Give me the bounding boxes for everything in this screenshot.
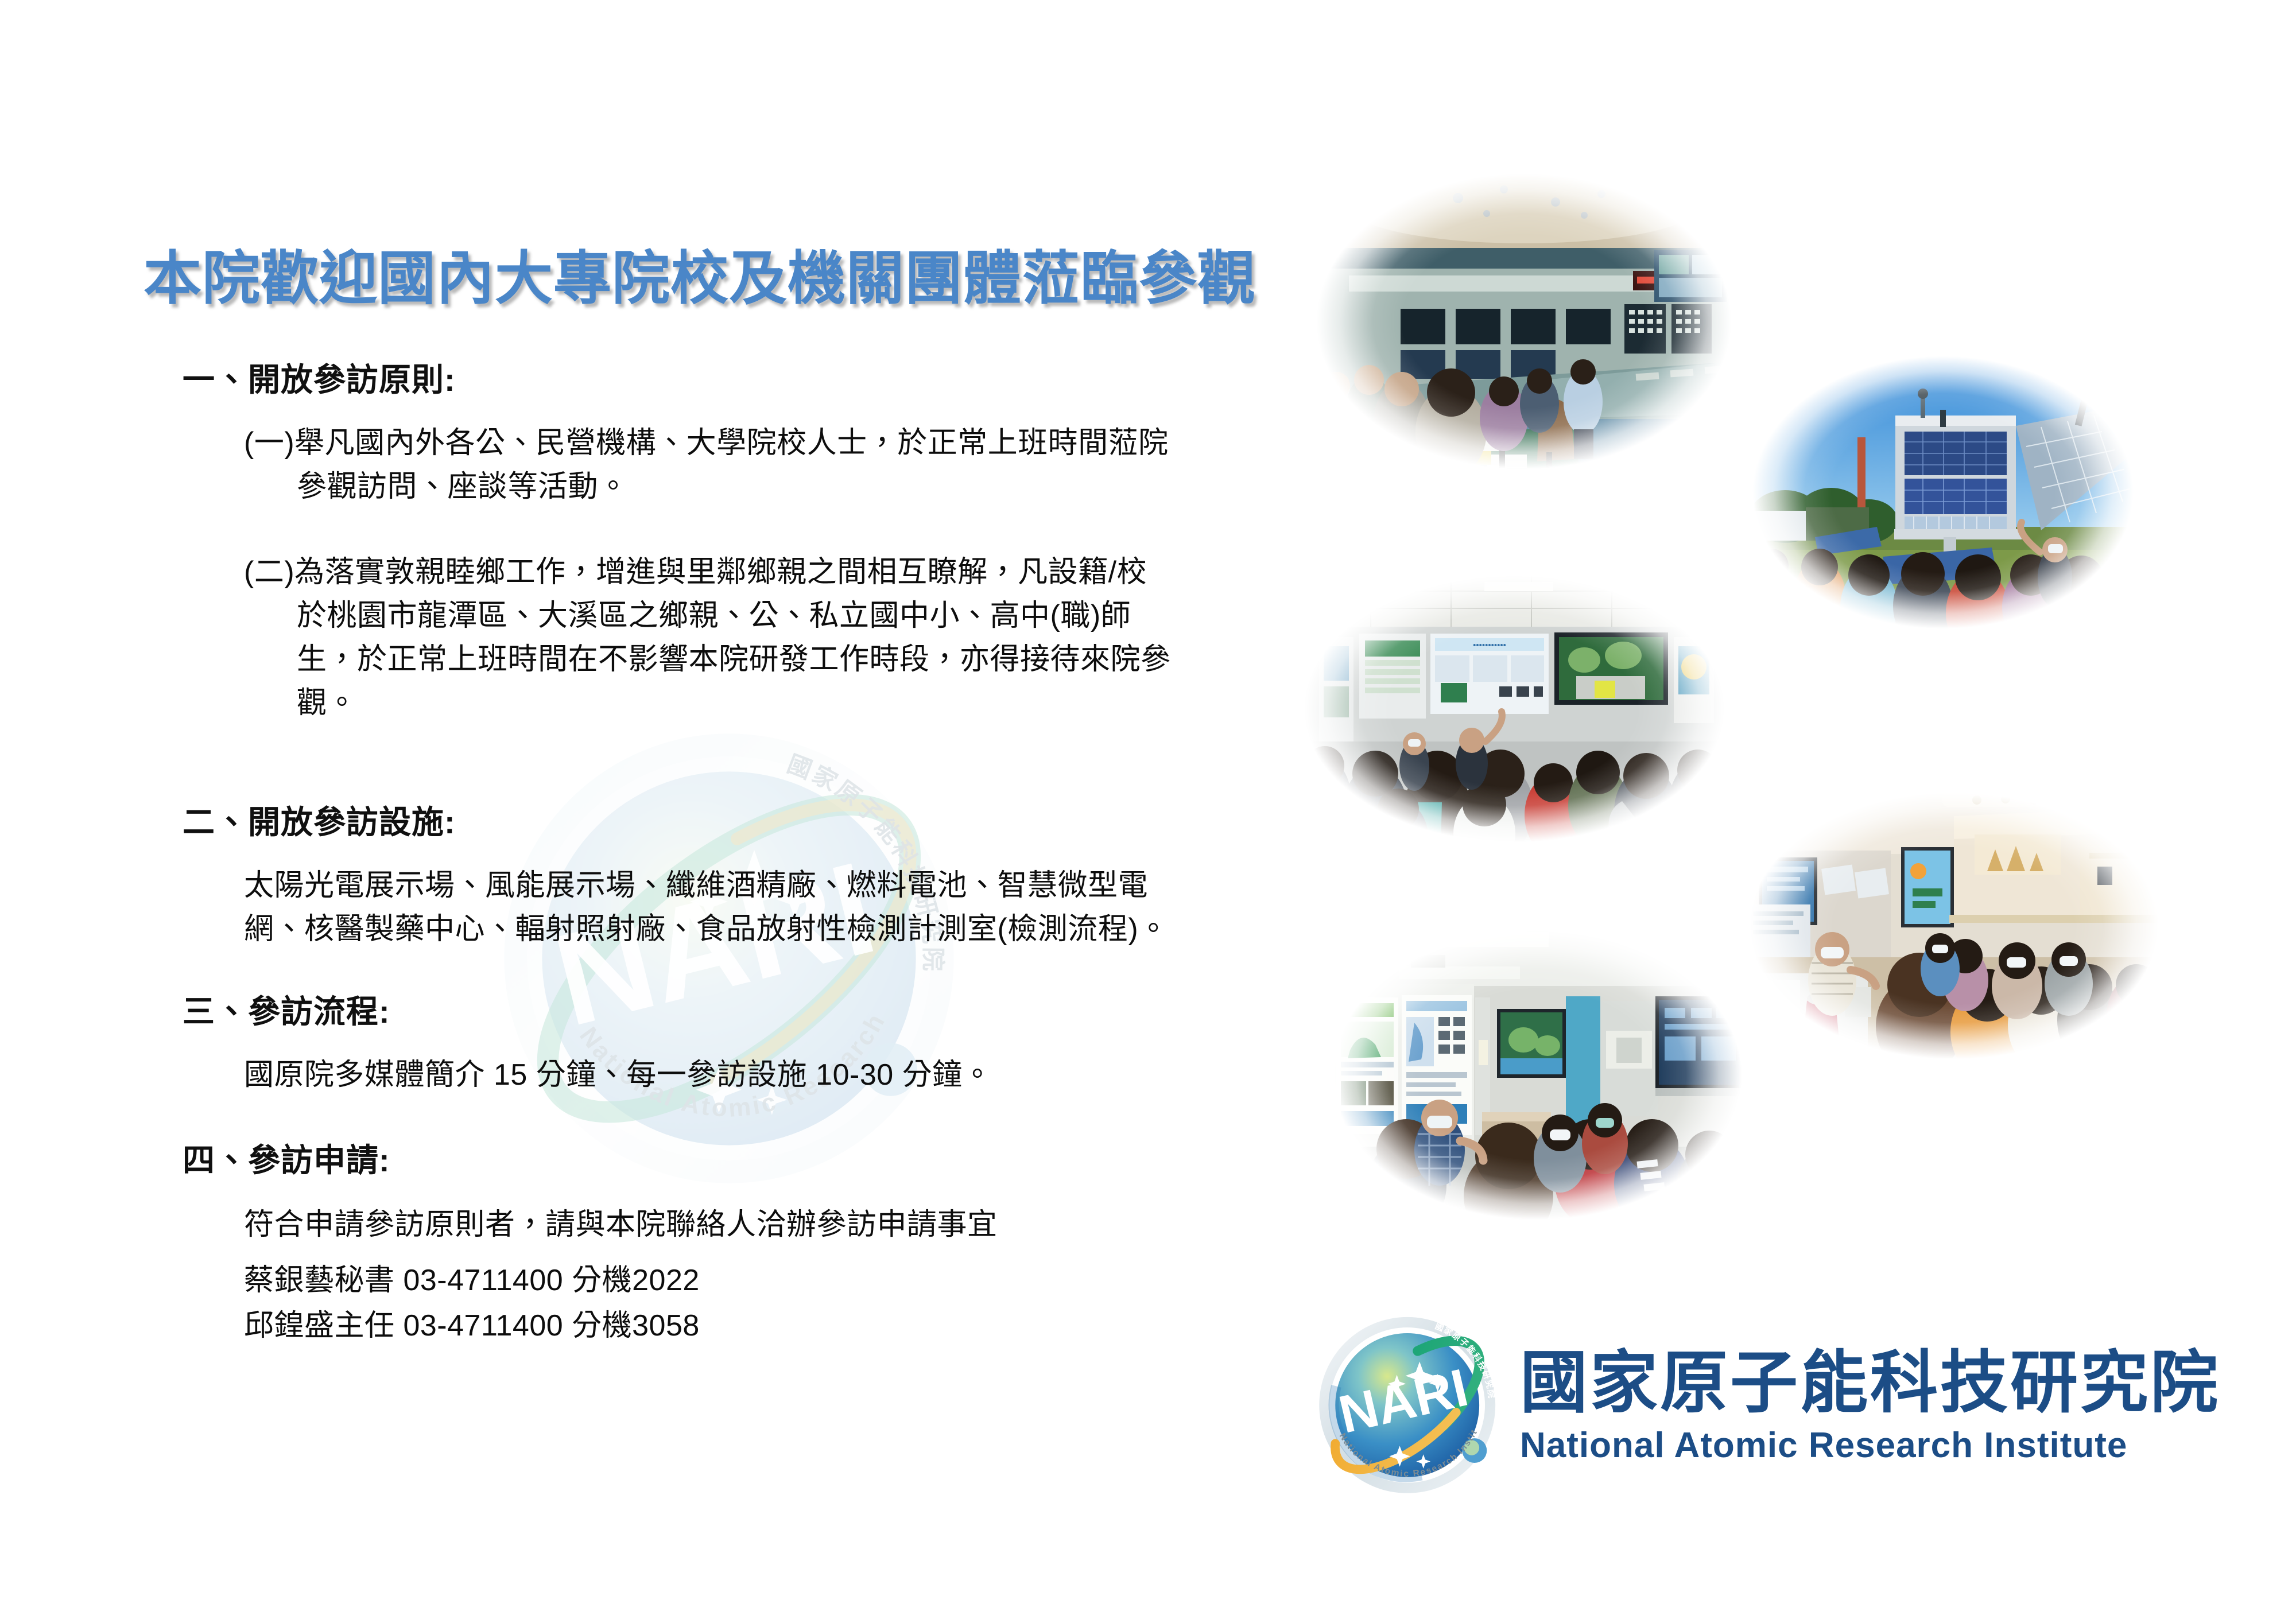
- poster-page: NARI National Atomic Research Institute …: [0, 0, 2296, 1623]
- photo-interactive-display-tour: [1747, 791, 2161, 1061]
- institute-name-zh: 國家原子能科技研究院: [1520, 1347, 2220, 1420]
- photo-control-room-tour: [1314, 172, 1733, 471]
- nari-globe-icon: NARI National Atomic Research Institute …: [1314, 1311, 1504, 1501]
- photo-solar-panel-exhibition: [1751, 355, 2135, 630]
- svg-text:•••••••••••: •••••••••••: [1473, 640, 1506, 650]
- institute-name-en: National Atomic Research Institute: [1520, 1426, 2220, 1465]
- photo-laboratory-poster-tour: [1331, 929, 1744, 1221]
- nari-logo-lockup: NARI National Atomic Research Institute …: [1314, 1311, 2220, 1501]
- photo-exhibition-hall-tour: •••••••••••: [1302, 574, 1727, 844]
- nari-wordmark: 國家原子能科技研究院 National Atomic Research Inst…: [1520, 1347, 2220, 1466]
